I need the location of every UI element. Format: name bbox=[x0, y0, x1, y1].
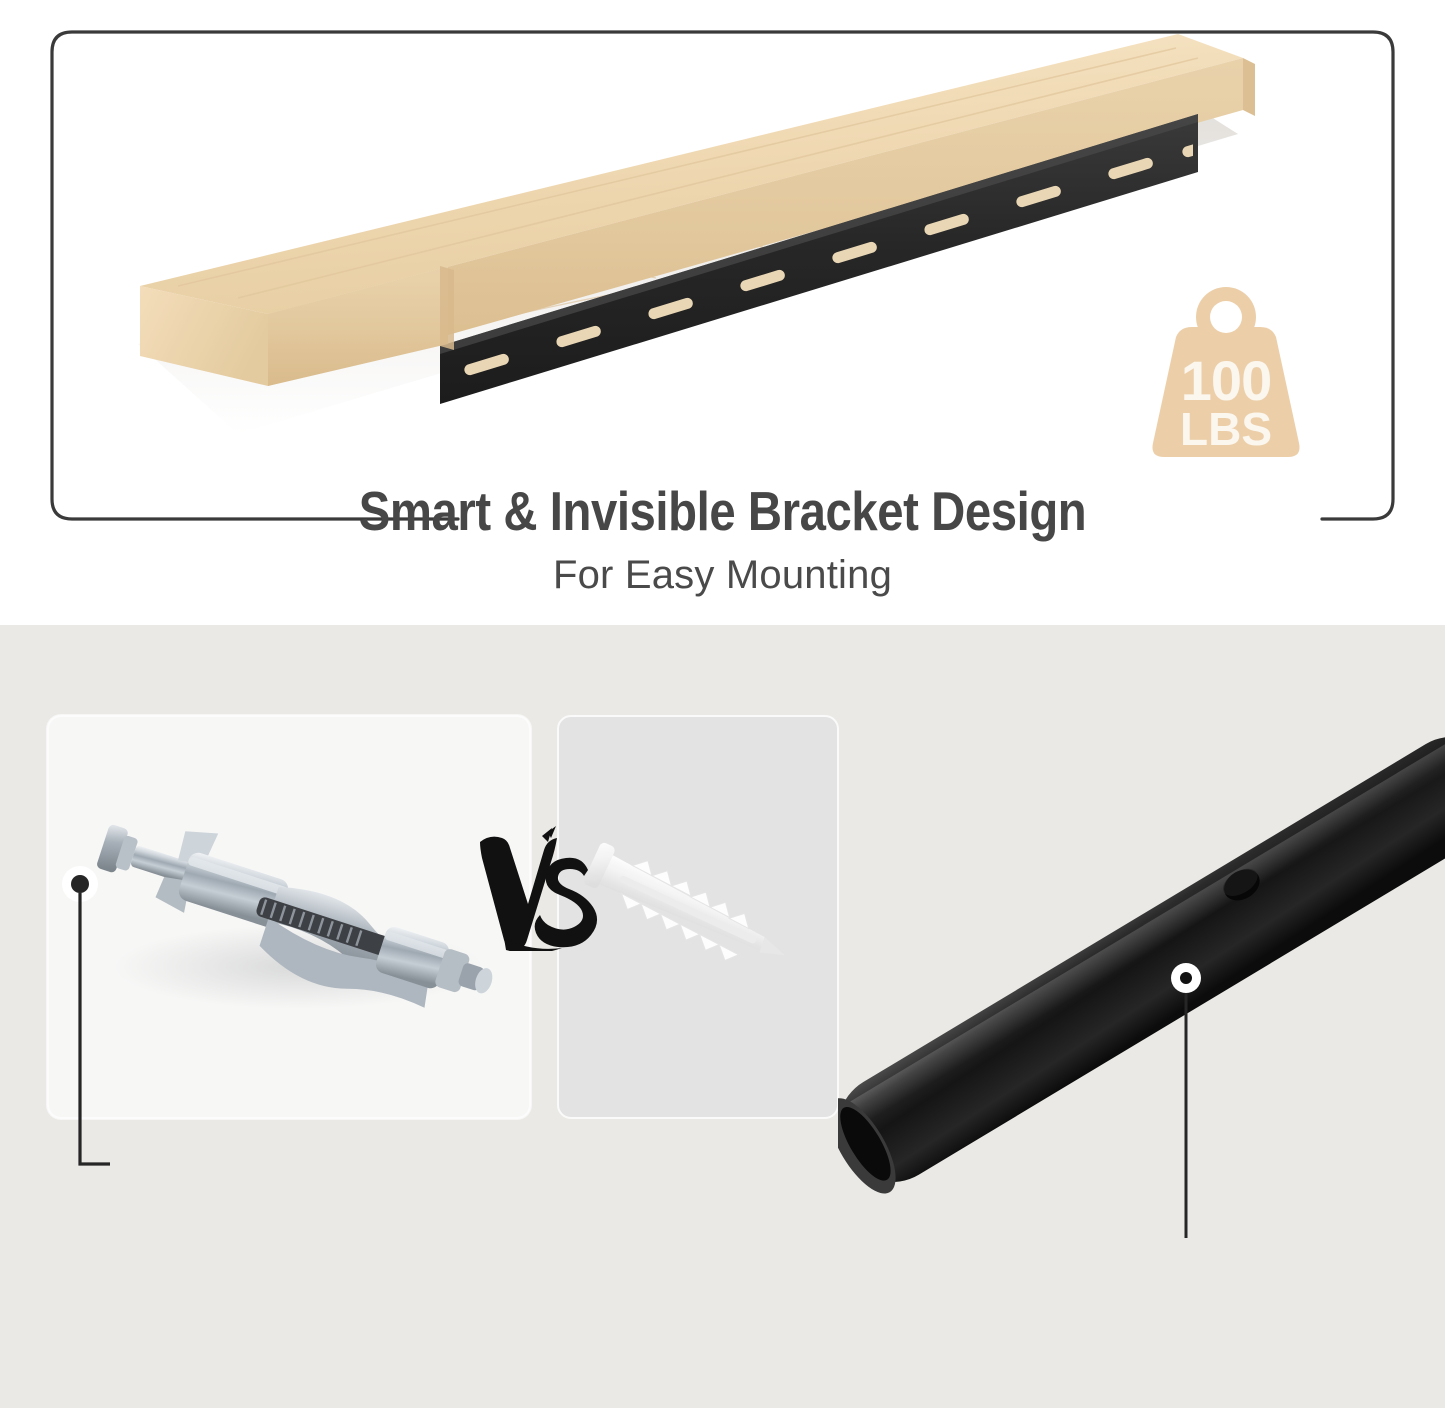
weight-unit: LBS bbox=[1180, 403, 1272, 455]
plastic-anchor-photo bbox=[559, 717, 837, 1117]
iron-callout-marker bbox=[1140, 960, 1250, 1250]
plastic-anchor-card bbox=[557, 715, 839, 1119]
ring-dot-icon bbox=[1180, 972, 1192, 984]
metal-anchor-callout-marker bbox=[52, 862, 172, 1192]
filled-dot-icon bbox=[71, 875, 89, 893]
top-feature-panel: 100 LBS Smart & Invisible Bracket Design… bbox=[0, 0, 1445, 625]
weight-capacity-badge: 100 LBS bbox=[1136, 285, 1316, 460]
floating-shelf-illustration bbox=[118, 14, 1258, 474]
page-title: Smart & Invisible Bracket Design bbox=[101, 480, 1344, 542]
page-subtitle: For Easy Mounting bbox=[0, 551, 1445, 599]
versus-mark bbox=[468, 826, 598, 951]
product-feature-infographic: 100 LBS Smart & Invisible Bracket Design… bbox=[0, 0, 1445, 1408]
